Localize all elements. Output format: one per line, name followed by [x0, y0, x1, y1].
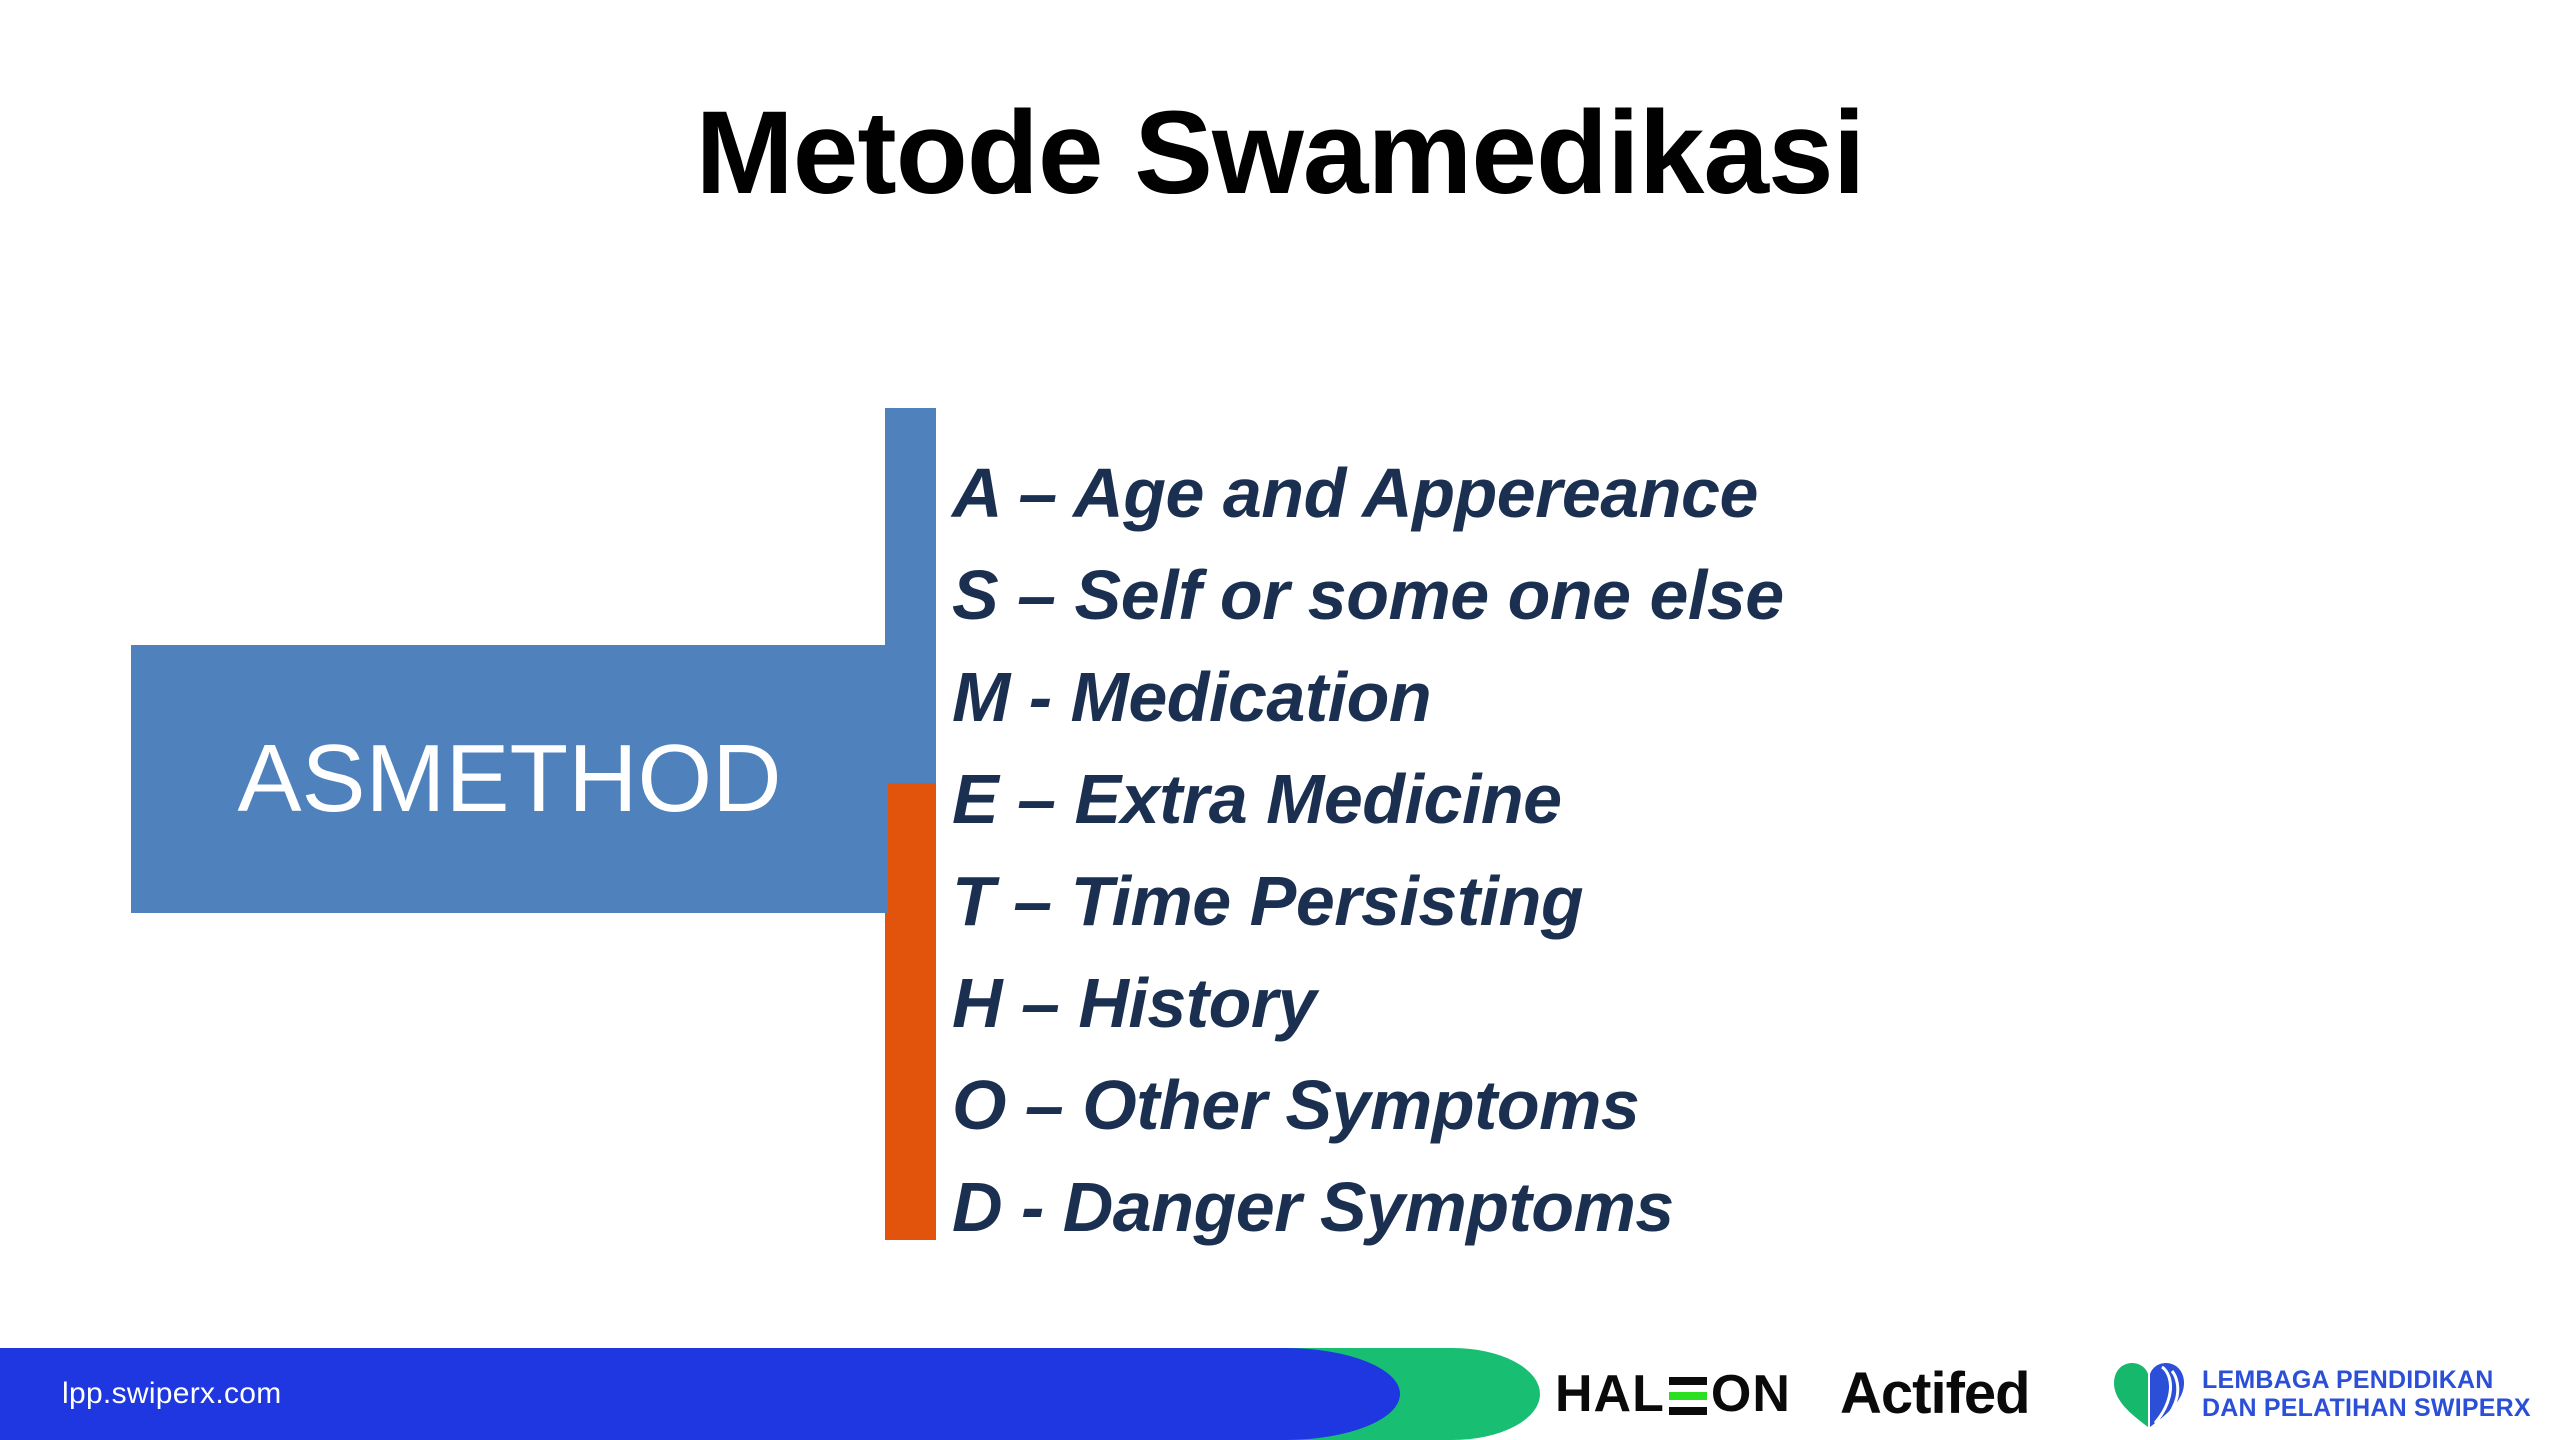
heart-book-icon	[2110, 1359, 2188, 1429]
asmethod-label-box: ASMETHOD	[131, 645, 888, 913]
accent-bar-blue-segment	[885, 408, 936, 783]
slide-footer: lpp.swiperx.com HAL ON Actifed 24	[0, 1348, 2560, 1440]
list-item: O – Other Symptoms	[952, 1054, 2512, 1156]
list-item: M - Medication	[952, 646, 2512, 748]
list-item: D - Danger Symptoms	[952, 1156, 2512, 1258]
list-item: T – Time Persisting	[952, 850, 2512, 952]
lpp-logo-line2: DAN PELATIHAN SWIPERX	[2202, 1394, 2531, 1422]
asmethod-list: A – Age and Appereance S – Self or some …	[952, 442, 2512, 1258]
list-item: S – Self or some one else	[952, 544, 2512, 646]
asmethod-label-text: ASMETHOD	[237, 730, 781, 828]
haleon-e-bars-icon	[1669, 1377, 1707, 1415]
accent-bar	[885, 408, 936, 1240]
page-title: Metode Swamedikasi	[0, 92, 2560, 216]
list-item: H – History	[952, 952, 2512, 1054]
lpp-swiperx-logo: LEMBAGA PENDIDIKAN DAN PELATIHAN SWIPERX	[2110, 1359, 2531, 1429]
footer-url-text[interactable]: lpp.swiperx.com	[62, 1377, 282, 1411]
list-item: A – Age and Appereance	[952, 442, 2512, 544]
slide-canvas: Metode Swamedikasi ASMETHOD A – Age and …	[0, 0, 2560, 1440]
accent-bar-orange-segment	[885, 783, 936, 1240]
lpp-logo-text: LEMBAGA PENDIDIKAN DAN PELATIHAN SWIPERX	[2202, 1366, 2531, 1422]
actifed-logo: Actifed	[1840, 1365, 2030, 1423]
lpp-logo-line1: LEMBAGA PENDIDIKAN	[2202, 1366, 2531, 1394]
haleon-logo-text-part2: ON	[1711, 1368, 1791, 1420]
haleon-logo-text-part1: HAL	[1555, 1368, 1665, 1420]
haleon-logo: HAL ON	[1555, 1364, 1791, 1424]
list-item: E – Extra Medicine	[952, 748, 2512, 850]
